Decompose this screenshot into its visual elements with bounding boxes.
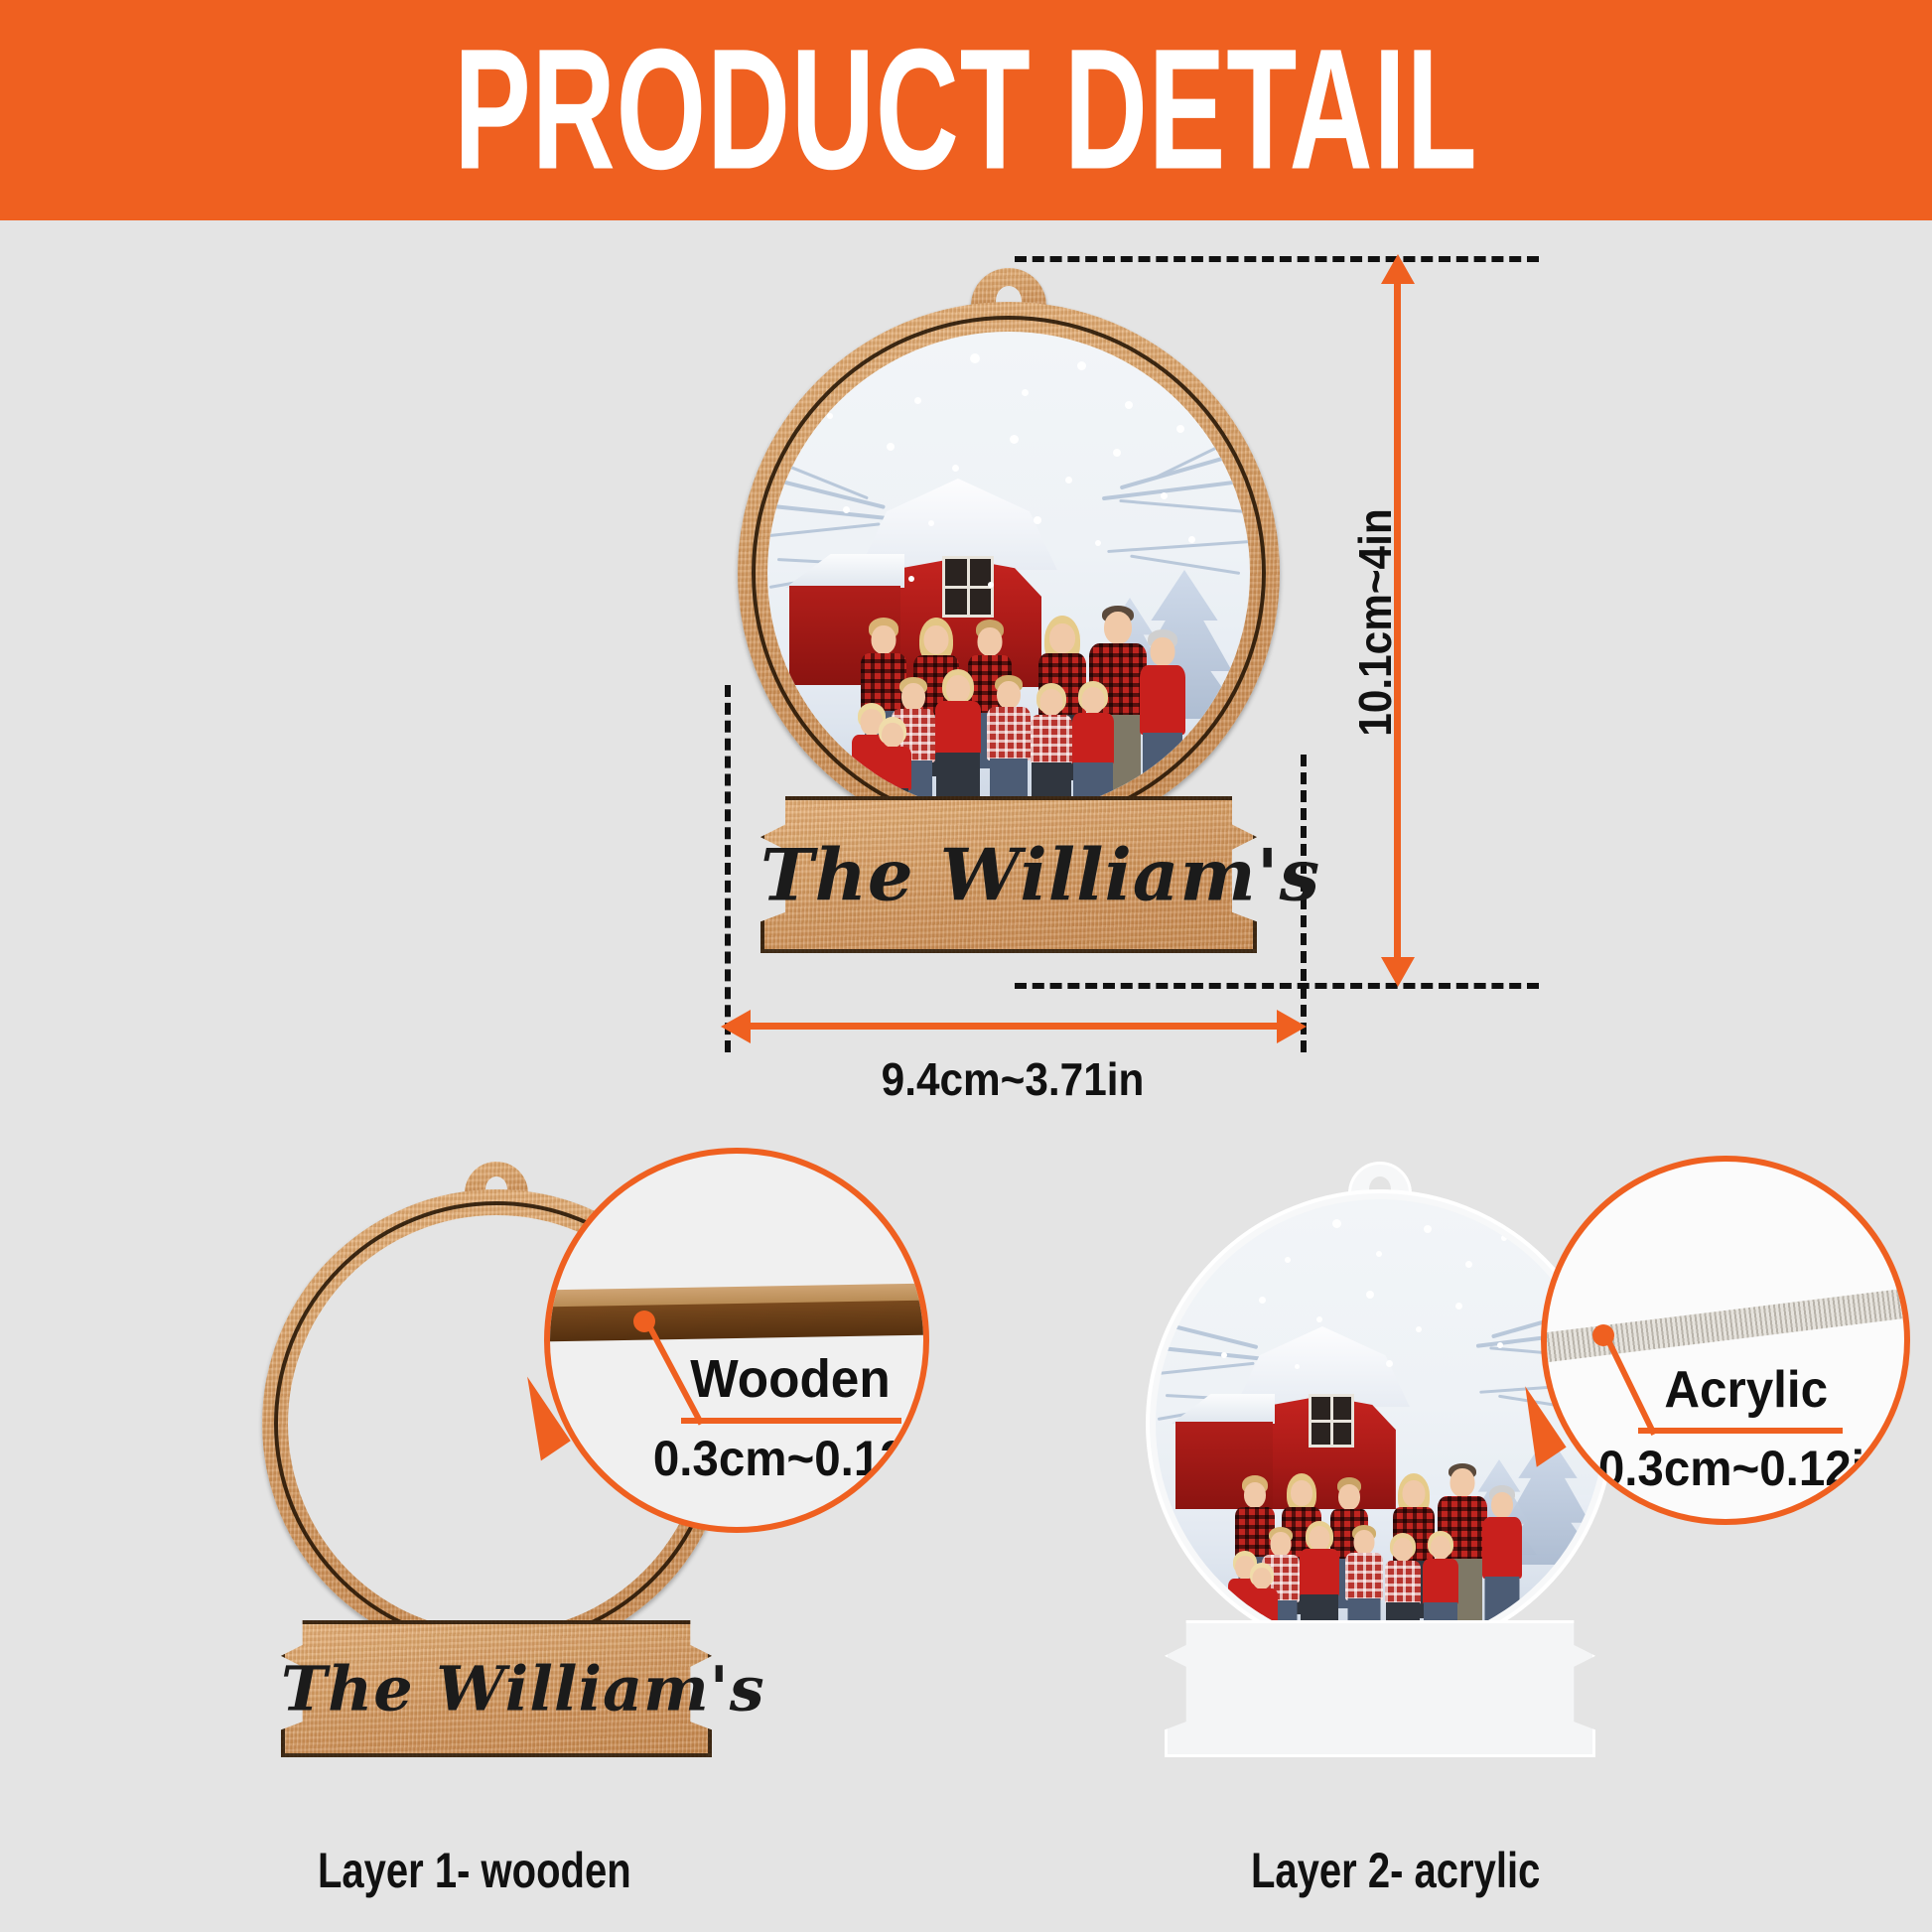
layer-2-base-banner [1165, 1620, 1595, 1757]
acrylic-leader-underline [1638, 1428, 1843, 1434]
winter-scene [767, 332, 1250, 814]
guide-line-top [1015, 256, 1539, 262]
layer-2-family-photo-group [1227, 1428, 1525, 1648]
person-front-4 [986, 675, 1032, 814]
main-ornament: The William's [711, 268, 1307, 1003]
wooden-callout-circle: Wooden 0.3cm~0.12in [544, 1148, 929, 1533]
acrylic-thickness-label: 0.3cm~0.12in [1598, 1440, 1893, 1497]
layer-1-banner-name-text: The William's [281, 1653, 712, 1725]
layer-2-banner-plate [1165, 1620, 1595, 1757]
layer-1-caption: Layer 1- wooden [318, 1842, 631, 1899]
wooden-thickness-label: 0.3cm~0.12in [653, 1430, 929, 1487]
height-dimension-label: 10.1cm~4in [1348, 485, 1402, 759]
wooden-leader-underline [681, 1418, 901, 1424]
person-front-6 [1071, 681, 1115, 814]
layer-2-caption: Layer 2- acrylic [1251, 1842, 1540, 1899]
banner-name-text: The William's [760, 833, 1257, 917]
product-detail-page: PRODUCT DETAIL 10.1cm~4in 9.4cm~3.71in [0, 0, 1932, 1932]
person-grandmother [1139, 629, 1186, 796]
acrylic-material-label: Acrylic [1664, 1360, 1828, 1420]
family-photo-group [851, 566, 1188, 814]
wooden-material-label: Wooden [690, 1348, 890, 1410]
page-title: PRODUCT DETAIL [454, 24, 1477, 196]
name-banner: The William's [760, 796, 1257, 953]
acrylic-callout-circle: Acrylic 0.3cm~0.12in [1541, 1156, 1910, 1525]
layer-2-person-grandmother [1481, 1485, 1523, 1632]
layer-1-name-banner: The William's [281, 1620, 712, 1757]
header-bar: PRODUCT DETAIL [0, 0, 1932, 220]
globe-photo-window [767, 332, 1250, 814]
globe-wood-frame [738, 302, 1280, 844]
person-front-5 [1030, 683, 1073, 814]
width-dimension-label: 9.4cm~3.71in [882, 1052, 1145, 1106]
person-front-3 [934, 669, 982, 814]
